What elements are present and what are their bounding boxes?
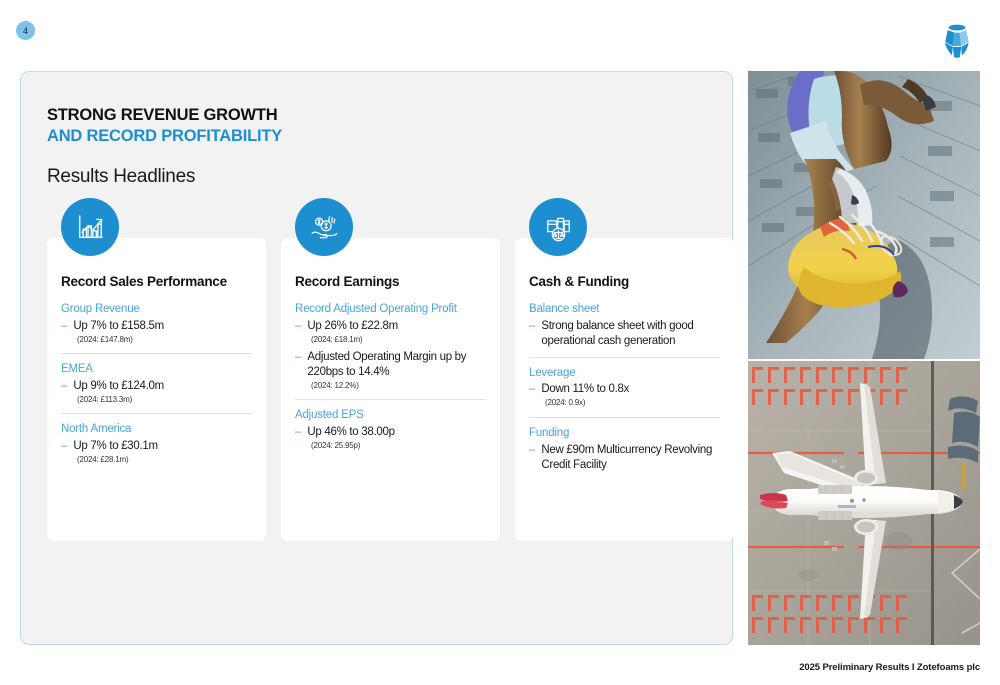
bullet-item: – Strong balance sheet with good operati… (529, 319, 720, 349)
bullet-note: (2024: 25.95p) (311, 441, 486, 451)
aerial-aircraft-on-tarmac-photo (748, 361, 980, 645)
slide-title-line2: AND RECORD PROFITABILITY (47, 126, 282, 147)
zotefoams-logo (936, 20, 978, 62)
card-title: Record Sales Performance (61, 274, 252, 289)
group-label: Balance sheet (529, 303, 720, 317)
bullet-item: – Up 7% to £158.5m (61, 319, 252, 334)
card-cash-and-funding: Cash & Funding Balance sheet – Strong ba… (515, 238, 734, 541)
dash-marker: – (529, 443, 535, 458)
bullet-item: – Up 46% to 38.00p (295, 425, 486, 440)
card-group: Record Adjusted Operating Profit – Up 26… (295, 303, 486, 391)
group-label: EMEA (61, 363, 252, 377)
slide-title-line1: STRONG REVENUE GROWTH (47, 105, 282, 126)
card-title: Record Earnings (295, 274, 486, 289)
bullet-text: Down 11% to 0.8x (541, 382, 629, 397)
bullet-item: – New £90m Multicurrency Revolving Credi… (529, 443, 720, 473)
bullet-item: – Up 9% to £124.0m (61, 379, 252, 394)
content-panel: STRONG REVENUE GROWTH AND RECORD PROFITA… (20, 71, 733, 645)
card-group: North America – Up 7% to £30.1m (2024: £… (61, 413, 252, 465)
group-label: Record Adjusted Operating Profit (295, 303, 486, 317)
bank-balance-scale-icon (529, 198, 587, 256)
group-label: Funding (529, 427, 720, 441)
card-record-sales-performance: Record Sales Performance Group Revenue –… (47, 238, 266, 541)
dash-marker: – (529, 382, 535, 397)
card-group: Balance sheet – Strong balance sheet wit… (529, 303, 720, 349)
dash-marker: – (295, 319, 301, 334)
bullet-text: Up 46% to 38.00p (307, 425, 394, 440)
bullet-note: (2024: £18.1m) (311, 335, 486, 345)
card-group: Funding – New £90m Multicurrency Revolvi… (529, 417, 720, 473)
slide-title: STRONG REVENUE GROWTH AND RECORD PROFITA… (47, 105, 282, 146)
card-group: Leverage – Down 11% to 0.8x (2024: 0.9x) (529, 357, 720, 409)
card-title: Cash & Funding (529, 274, 720, 289)
slide-subtitle: Results Headlines (47, 166, 195, 188)
hand-with-coins-icon (295, 198, 353, 256)
bullet-text: Adjusted Operating Margin up by 220bps t… (307, 350, 486, 380)
bullet-item: – Adjusted Operating Margin up by 220bps… (295, 350, 486, 380)
card-record-earnings: Record Earnings Record Adjusted Operatin… (281, 238, 500, 541)
group-label: Leverage (529, 367, 720, 381)
bullet-note: (2024: £28.1m) (77, 455, 252, 465)
card-group: EMEA – Up 9% to £124.0m (2024: £113.3m) (61, 353, 252, 405)
dash-marker: – (61, 439, 67, 454)
bullet-note: (2024: 0.9x) (545, 398, 720, 408)
bullet-note: (2024: £147.8m) (77, 335, 252, 345)
dash-marker: – (61, 319, 67, 334)
bullet-text: Up 7% to £30.1m (73, 439, 157, 454)
page-number-badge: 4 (16, 21, 35, 40)
group-label: Group Revenue (61, 303, 252, 317)
bullet-item: – Up 26% to £22.8m (295, 319, 486, 334)
bullet-text: New £90m Multicurrency Revolving Credit … (541, 443, 720, 473)
bullet-text: Up 9% to £124.0m (73, 379, 163, 394)
bullet-text: Strong balance sheet with good operation… (541, 319, 720, 349)
cards-container: Record Sales Performance Group Revenue –… (47, 238, 734, 541)
bullet-item: – Up 7% to £30.1m (61, 439, 252, 454)
group-label: Adjusted EPS (295, 409, 486, 423)
bullet-item: – Down 11% to 0.8x (529, 382, 720, 397)
bullet-note: (2024: £113.3m) (77, 395, 252, 405)
card-group: Group Revenue – Up 7% to £158.5m (2024: … (61, 303, 252, 345)
dash-marker: – (61, 379, 67, 394)
bar-chart-growth-icon (61, 198, 119, 256)
bullet-text: Up 7% to £158.5m (73, 319, 163, 334)
dash-marker: – (295, 350, 301, 365)
footer-text: 2025 Preliminary Results I Zotefoams plc (799, 662, 980, 673)
bullet-note: (2024: 12.2%) (311, 381, 486, 391)
dash-marker: – (529, 319, 535, 334)
dash-marker: – (295, 425, 301, 440)
card-group: Adjusted EPS – Up 46% to 38.00p (2024: 2… (295, 399, 486, 451)
group-label: North America (61, 423, 252, 437)
bullet-text: Up 26% to £22.8m (307, 319, 397, 334)
runner-with-yellow-shoe-photo (748, 71, 980, 359)
